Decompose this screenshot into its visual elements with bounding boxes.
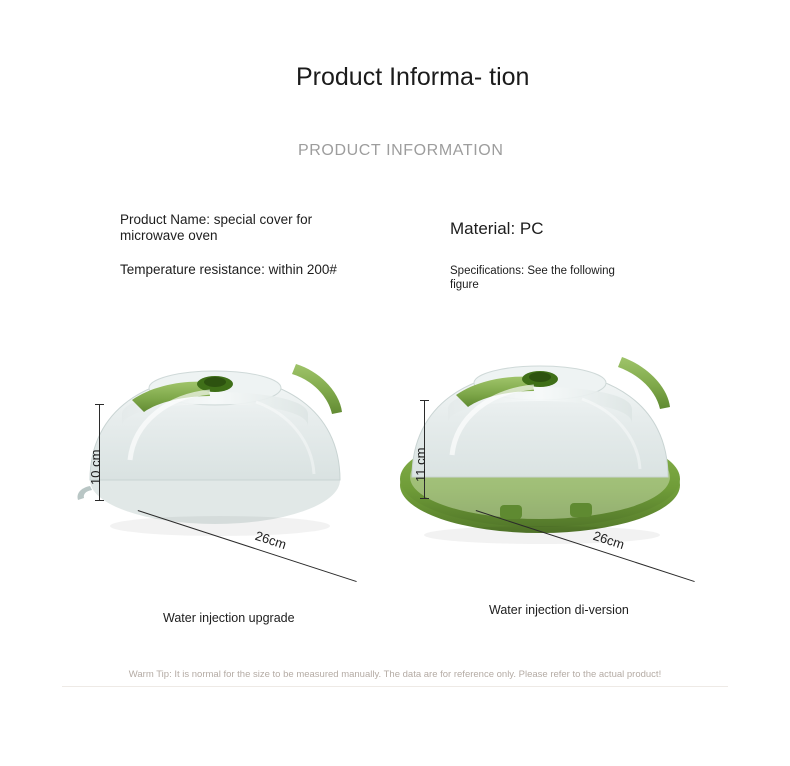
caption-right: Water injection di-version <box>489 602 639 618</box>
warm-tip: Warm Tip: It is normal for the size to b… <box>62 668 728 681</box>
height-cap-top-right <box>420 400 429 401</box>
height-label-left: 10 cm <box>88 450 103 485</box>
height-cap-top-left <box>95 404 104 405</box>
spec-specifications: Specifications: See the following figure <box>450 264 640 292</box>
title-block: Product Informa- tion <box>296 62 596 92</box>
caption-left: Water injection upgrade <box>163 610 295 626</box>
page-title: Product Informa- tion <box>296 62 596 92</box>
height-cap-bottom-left <box>95 500 104 501</box>
spec-material: Material: PC <box>450 219 544 239</box>
product-information-page: Product Informa- tion PRODUCT INFORMATIO… <box>0 0 790 766</box>
product-figure-left <box>60 350 390 580</box>
spec-temperature-resistance: Temperature resistance: within 200# <box>120 262 370 278</box>
product-figure-right <box>390 345 720 585</box>
height-label-right: 11 cm <box>413 448 428 482</box>
spec-product-name: Product Name: special cover for microwav… <box>120 212 370 244</box>
height-cap-bottom-right <box>420 498 429 499</box>
footer-divider <box>62 686 728 687</box>
page-subtitle: PRODUCT INFORMATION <box>298 142 503 160</box>
